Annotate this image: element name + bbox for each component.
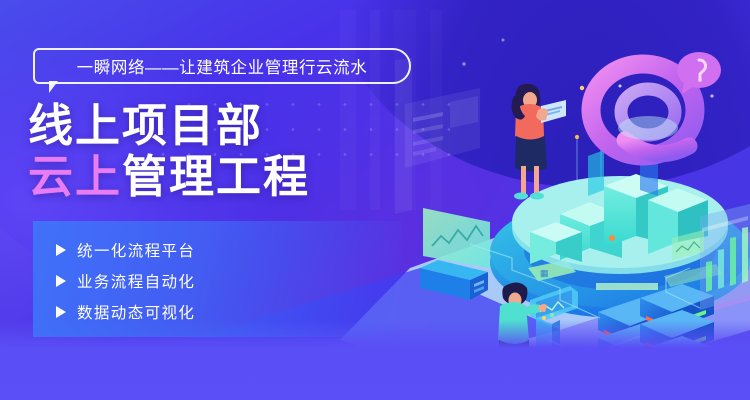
bullet-label: 统一化流程平台 <box>77 239 195 261</box>
bar-chart-panel-graphic <box>700 204 750 310</box>
e-logo-graphic <box>591 64 695 156</box>
headline-line-2: 云上管理工程 <box>28 151 448 202</box>
list-item: 统一化流程平台 <box>56 236 195 263</box>
headline-rest: 管理工程 <box>122 151 310 202</box>
list-item: 业务流程自动化 <box>56 267 195 294</box>
headline-line-1: 线上项目部 <box>28 100 448 151</box>
bullet-label: 数据动态可视化 <box>77 301 195 323</box>
triangle-right-icon <box>56 275 66 287</box>
headline-block: 线上项目部 云上管理工程 <box>28 100 448 202</box>
bullet-label: 业务流程自动化 <box>77 270 195 292</box>
woman-figure <box>511 84 566 200</box>
triangle-right-icon <box>56 306 66 318</box>
tagline-text: 一瞬网络——让建筑企业管理行云流水 <box>33 48 411 84</box>
server-rack-graphic <box>598 284 714 400</box>
kiosk-graphic <box>520 286 578 382</box>
marketing-banner: ▦ <box>0 0 750 400</box>
feature-bullet-list: 统一化流程平台 业务流程自动化 数据动态可视化 <box>56 236 195 329</box>
man-figure <box>495 282 547 395</box>
headline-accent: 云上 <box>28 151 122 202</box>
chat-bubble-graphic <box>677 52 721 94</box>
list-item: 数据动态可视化 <box>56 298 195 325</box>
svg-text:▦: ▦ <box>540 268 549 278</box>
monitor-graphic <box>420 208 490 300</box>
background-bottom-band <box>0 320 750 400</box>
triangle-right-icon <box>56 244 66 256</box>
platform-blocks <box>530 174 708 264</box>
tagline-bubble: 一瞬网络——让建筑企业管理行云流水 <box>33 48 411 84</box>
